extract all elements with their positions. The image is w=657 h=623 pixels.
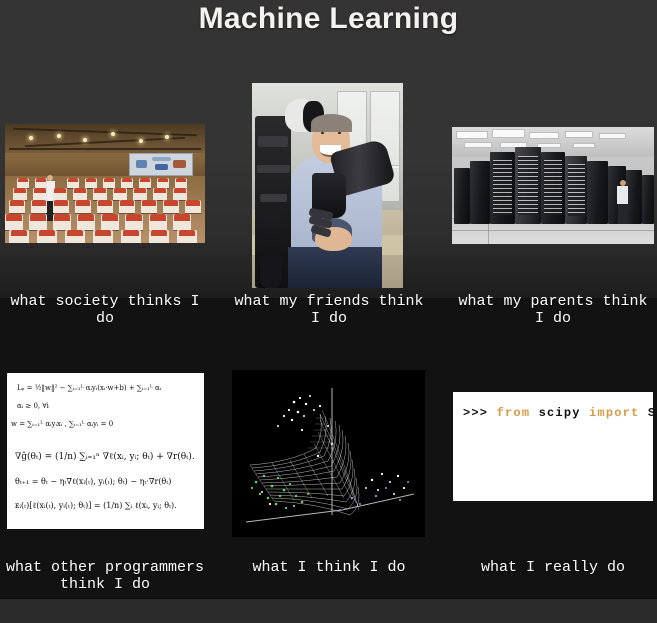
robot-part (260, 194, 287, 202)
caption-other-programmers: what other programmers think I do (0, 559, 210, 593)
server-rack (515, 147, 541, 224)
keyword-import: import (589, 406, 639, 420)
technician-person (617, 180, 628, 224)
ceiling-tile (456, 131, 488, 139)
floor-seam (452, 230, 654, 231)
technician-body (617, 186, 628, 204)
keyword-from: from (497, 406, 531, 420)
screen-graphic (152, 157, 171, 160)
ceiling-beam (9, 148, 201, 150)
equation-line: Lₚ = ½‖w‖² − ∑ᵢ₌₁ᴸ αᵢyᵢ(xᵢ·w+b) + ∑ᵢ₌₁ᴸ … (17, 384, 161, 392)
module-name: scipy (530, 406, 589, 420)
page-title: Machine Learning (0, 2, 657, 36)
caption-i-think: what I think I do (224, 559, 434, 576)
projector-screen (129, 153, 193, 177)
python-prompt: >>> (463, 406, 497, 420)
server-rack (565, 156, 587, 224)
ceiling-tile (492, 129, 524, 137)
mans-jeans (288, 247, 382, 288)
ceiling-lamp (29, 136, 33, 140)
math-equations-panel: Lₚ = ½‖w‖² − ∑ᵢ₌₁ᴸ αᵢyᵢ(xᵢ·w+b) + ∑ᵢ₌₁ᴸ … (7, 373, 204, 529)
equation-line: αᵢ ≥ 0, ∀i (17, 402, 49, 410)
server-rack (470, 161, 490, 224)
caption-i-really-do: what I really do (448, 559, 657, 576)
server-rack (587, 161, 607, 224)
caption-parents: what my parents think I do (448, 293, 657, 327)
equation-line: ᴇᵢ(ₜ)[ℓ(xᵢ(ₜ), yᵢ(ₜ); θₜ)] = (1/n) ∑ᵢ ℓ(… (15, 501, 177, 510)
screen-graphic (136, 160, 147, 169)
ceiling-tile (464, 142, 492, 148)
footer-bar (0, 598, 657, 623)
equation-line: ∇ĝ(θₜ) = (1/n) ∑ᵢ₌₁ⁿ ∇ℓ(xᵢ, yᵢ; θₜ) + ∇r… (15, 451, 195, 462)
robot-part (258, 136, 288, 146)
screen-graphic (155, 164, 169, 171)
server-rack (626, 170, 642, 224)
lecture-hall-photo (5, 124, 205, 243)
man-with-robot-photo (252, 83, 403, 288)
equation-line: θₜ₊₁ = θₜ − ηₜ∇ℓ(xᵢ(ₜ), yᵢ(ₜ); θₜ) − ηₜ·… (15, 477, 171, 486)
server-rack (642, 175, 654, 224)
meme-image: Machine Learning (0, 0, 657, 623)
server-rack (454, 168, 470, 224)
caption-friends: what my friends think I do (224, 293, 434, 327)
server-rack (490, 152, 514, 225)
ceiling-tile (573, 143, 595, 148)
ceiling-tile (565, 131, 593, 138)
code-line: >>> from scipy import SVM (463, 406, 653, 420)
ceiling-tile (529, 132, 559, 139)
caption-society: what society thinks I do (0, 293, 210, 327)
equation-line: w = ∑ᵢ₌₁ᴸ αᵢyᵢxᵢ , ∑ᵢ₌₁ᴸ αᵢyᵢ = 0 (11, 420, 113, 428)
screen-graphic (173, 160, 185, 168)
server-room-photo (452, 127, 654, 244)
server-rack (541, 152, 565, 225)
robot-part (257, 165, 290, 173)
ceiling-tile (599, 133, 625, 139)
3d-manifold-plot (232, 370, 425, 537)
manifold-svg (232, 370, 425, 537)
robot-claw (260, 255, 283, 288)
technician-legs (618, 204, 627, 224)
imported-symbol: SVM (639, 406, 653, 420)
mans-hair (311, 114, 352, 132)
ceiling-lamp (165, 135, 169, 139)
python-console-panel: >>> from scipy import SVM (453, 392, 653, 501)
ceiling-lamp (57, 134, 61, 138)
